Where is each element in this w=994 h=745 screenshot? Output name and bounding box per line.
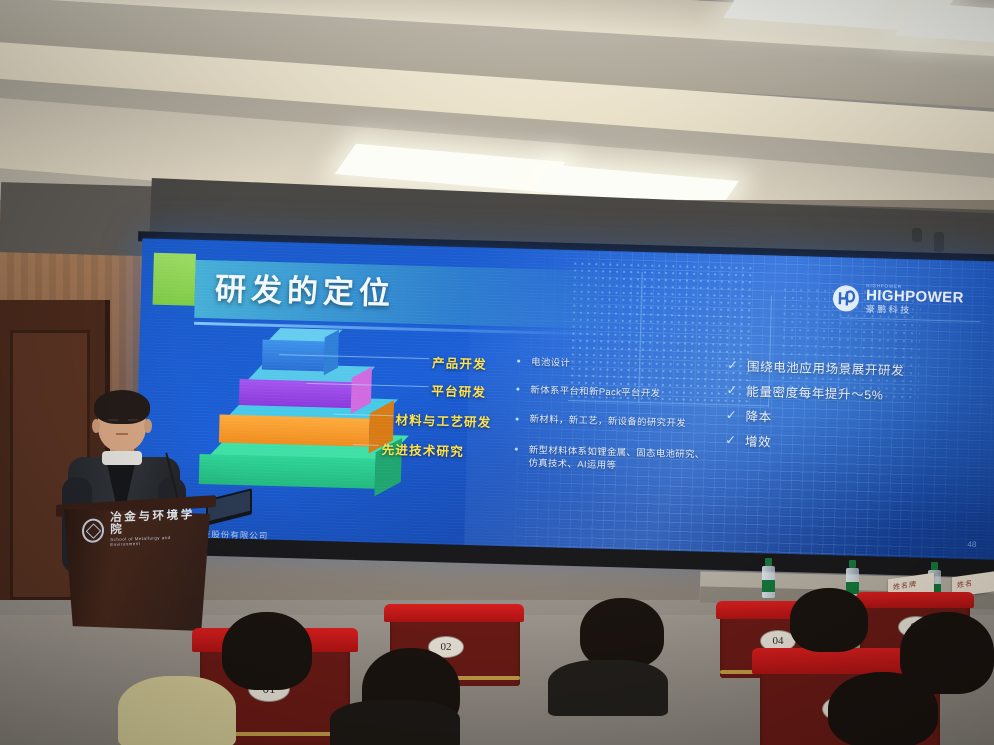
podium-sign: 冶金与环境学院 School of Metallurgy and Environ…: [82, 514, 200, 544]
audience-shoulders: [118, 676, 236, 745]
ceiling-spotlight: [934, 232, 944, 252]
speaker-eye: [108, 419, 118, 421]
university-emblem-icon: [82, 518, 104, 543]
speaker-mouth: [116, 433, 128, 435]
placard-text: 姓名牌: [893, 579, 917, 592]
podium-sign-text: 冶金与环境学院 School of Metallurgy and Environ…: [110, 509, 200, 548]
audience-shoulders: [330, 700, 460, 745]
speaker-eye: [128, 419, 138, 421]
seat-cushion: [856, 592, 974, 608]
led-screen: 研发的定位 HIGHPOWER HIGHPOWER 豪鹏科技: [134, 238, 994, 571]
water-bottle[interactable]: [762, 558, 775, 598]
presentation-slide: 研发的定位 HIGHPOWER HIGHPOWER 豪鹏科技: [134, 238, 994, 567]
speaker-ear: [92, 419, 100, 433]
podium-org-cn: 冶金与环境学院: [110, 509, 200, 536]
audience-head: [790, 588, 868, 652]
bottle-cap: [849, 560, 856, 568]
bottle-cap: [765, 558, 772, 566]
photo-scene: 研发的定位 HIGHPOWER HIGHPOWER 豪鹏科技: [0, 0, 994, 745]
ceiling-spotlight: [912, 228, 922, 242]
audience-head: [222, 612, 312, 690]
audience-head: [828, 672, 938, 745]
bottle-label: [762, 580, 775, 592]
seat-cushion: [384, 604, 524, 622]
bottle-cap: [931, 562, 938, 570]
speaker-collar: [102, 451, 142, 465]
emblem-inner-shape: [85, 523, 101, 539]
audience-shoulders: [548, 660, 668, 716]
placard-text: 姓名: [957, 578, 973, 590]
led-scanlines: [134, 238, 994, 567]
speaker-hair: [94, 390, 150, 424]
speaker-ear: [144, 419, 152, 433]
audience-head: [580, 598, 664, 668]
podium: 冶金与环境学院 School of Metallurgy and Environ…: [60, 500, 210, 632]
